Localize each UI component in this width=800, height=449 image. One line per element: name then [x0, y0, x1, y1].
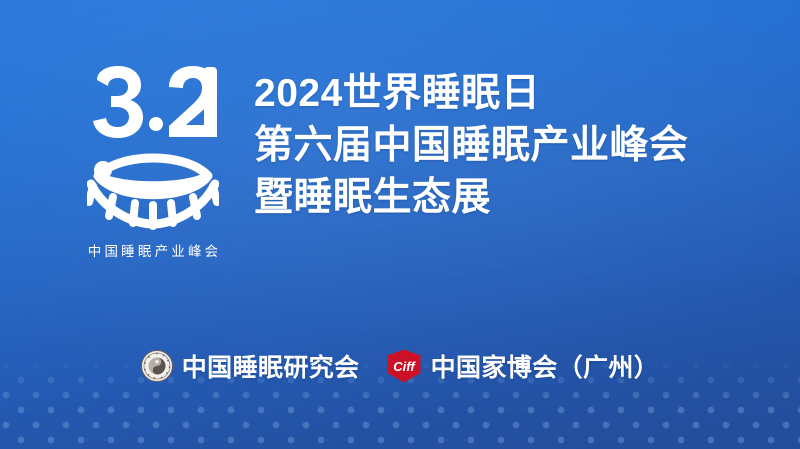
china-sleep-research-society-seal-icon — [141, 350, 173, 382]
summit-logo: 中国睡眠产业峰会 — [78, 62, 228, 260]
title-line-2: 第六届中国睡眠产业峰会 — [254, 120, 689, 172]
sponsor-china-sleep-research-society: 中国睡眠研究会 — [141, 348, 360, 384]
summit-logo-caption: 中国睡眠产业峰会 — [85, 240, 222, 260]
sponsor-name-sleep-research-society: 中国睡眠研究会 — [182, 348, 360, 384]
closed-eye-with-lashes-icon — [87, 66, 219, 234]
title-line-1: 2024世界睡眠日 — [254, 68, 689, 120]
sponsor-row: 中国睡眠研究会 Ciff 中国家博会（广州） — [0, 348, 800, 384]
ciff-hexagon-logo-icon: Ciff — [386, 349, 422, 383]
sponsor-name-ciff: 中国家博会（广州） — [431, 348, 660, 384]
ciff-wordmark: Ciff — [393, 359, 416, 374]
sponsor-ciff: Ciff 中国家博会（广州） — [386, 348, 660, 384]
poster-title: 2024世界睡眠日 第六届中国睡眠产业峰会 暨睡眠生态展 — [254, 62, 689, 224]
title-line-3: 暨睡眠生态展 — [254, 172, 689, 224]
masthead: 中国睡眠产业峰会 2024世界睡眠日 第六届中国睡眠产业峰会 暨睡眠生态展 — [78, 62, 689, 260]
sleep-summit-poster: 中国睡眠产业峰会 2024世界睡眠日 第六届中国睡眠产业峰会 暨睡眠生态展 — [0, 0, 800, 449]
